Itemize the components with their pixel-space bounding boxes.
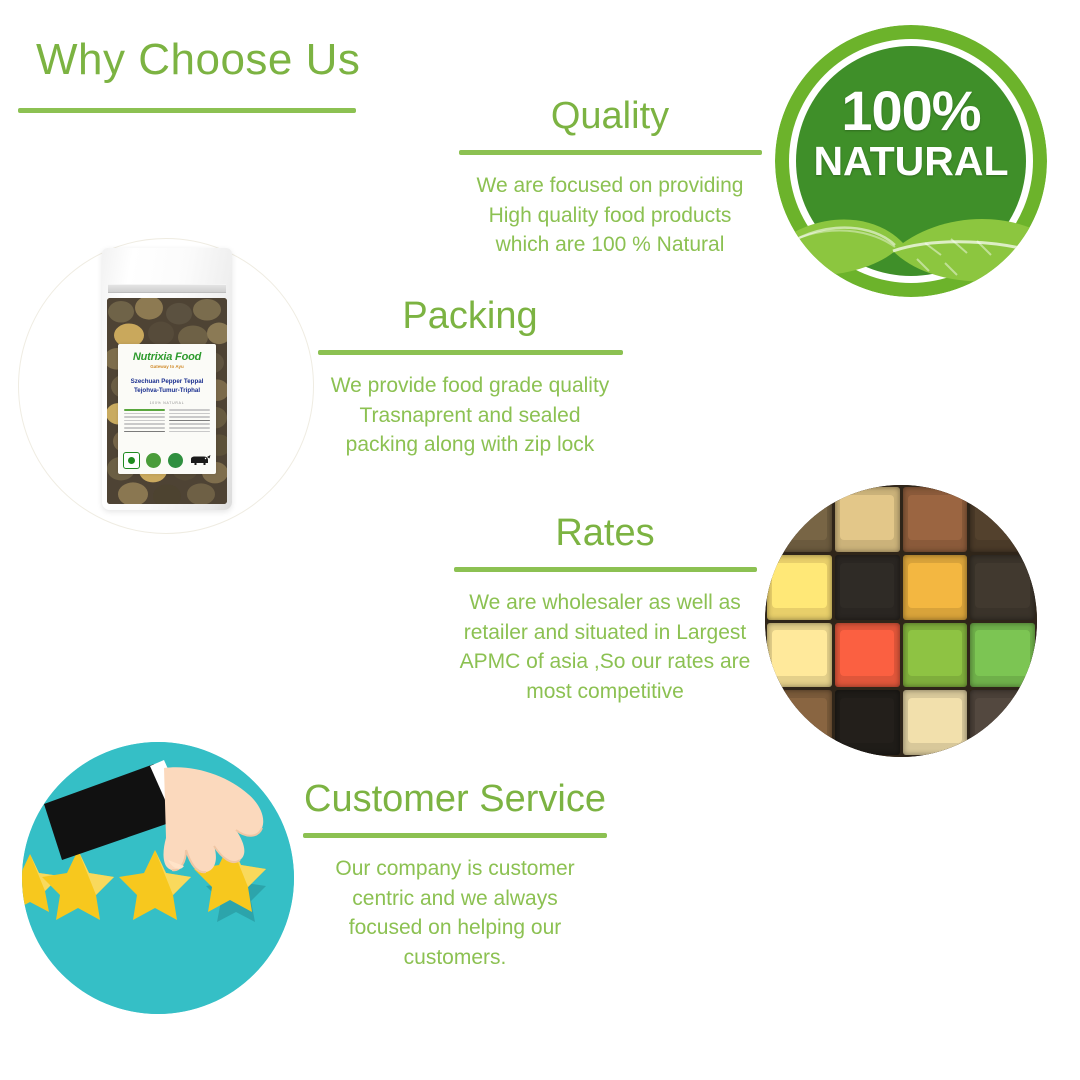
spice-bin [903,623,968,688]
customer-service-image [22,742,294,1014]
pouch-zip-lock [108,284,226,293]
product-name: Szechuan Pepper Teppal Tejohva-Tumur-Tri… [118,378,216,396]
spice-bin [767,555,832,620]
label-text-line [169,409,210,411]
label-text-line [169,420,210,422]
section-divider-quality [459,150,762,155]
section-packing: Packing We provide food grade quality Tr… [300,296,640,460]
fssai-seal-icon [168,453,183,468]
product-label: Nutrixia Food Gateway to Ayu Szechuan Pe… [118,344,216,474]
spice-bin [903,487,968,552]
spice-bin [767,487,832,552]
product-pouch: Nutrixia Food Gateway to Ayu Szechuan Pe… [102,248,232,510]
label-text-line [169,427,210,429]
natural-badge-clip: 100% NATURAL [775,25,1047,297]
spice-bin [970,555,1035,620]
label-text-line [169,423,210,425]
label-text-line [124,409,165,411]
label-column-right [169,409,210,434]
natural-badge-percent: 100% [775,83,1047,139]
natural-badge-icon: 100% NATURAL [775,25,1047,297]
organic-seal-icon [146,453,161,468]
spice-bin [835,487,900,552]
product-package-image: Nutrixia Food Gateway to Ayu Szechuan Pe… [18,238,314,534]
product-tagline: Gateway to Ayu [118,364,216,369]
section-heading-rates: Rates [430,513,780,555]
label-text-line [124,420,165,422]
section-divider-customer-service [303,833,607,838]
label-text-line [169,431,210,433]
spice-market-image [765,485,1037,757]
hand-stars-illustration [22,742,294,1014]
product-label-details [118,405,216,434]
section-body-rates: We are wholesaler as well as retailer an… [430,588,780,707]
spice-bin [970,487,1035,552]
label-text-line [169,413,210,415]
label-text-line [124,423,165,425]
section-body-packing: We provide food grade quality Trasnapren… [300,371,640,460]
spice-bin [903,690,968,755]
label-text-line [124,431,165,433]
section-heading-quality: Quality [440,96,780,138]
spice-bins-grid [765,485,1037,757]
veg-mark-icon [123,452,140,469]
label-text-line [124,416,165,418]
product-certification-row [123,452,211,469]
spice-bin [903,555,968,620]
section-divider-rates [454,567,757,572]
label-text-line [169,416,210,418]
section-heading-customer-service: Customer Service [288,779,622,821]
label-column-left [124,409,165,434]
product-brand-name: Nutrixia Food [118,351,216,363]
label-text-line [124,427,165,429]
section-quality: Quality We are focused on providing High… [440,96,780,260]
ayurveda-bull-icon [189,453,211,468]
label-text-line [124,413,165,415]
infographic-canvas: Why Choose Us Quality We are focused on … [0,0,1080,1080]
page-title-underline [18,108,356,113]
spice-bin [835,690,900,755]
section-rates: Rates We are wholesaler as well as retai… [430,513,780,707]
section-customer-service: Customer Service Our company is customer… [288,779,622,973]
section-heading-packing: Packing [300,296,640,338]
badge-leaf-icon [775,147,1047,297]
spice-bin [835,555,900,620]
section-divider-packing [318,350,623,355]
page-title: Why Choose Us [36,38,360,82]
spice-bin [835,623,900,688]
spice-bin [767,690,832,755]
spice-bin [970,690,1035,755]
section-body-customer-service: Our company is customer centric and we a… [288,854,622,973]
spice-bin [970,623,1035,688]
section-body-quality: We are focused on providing High quality… [440,171,780,260]
spice-bin [767,623,832,688]
